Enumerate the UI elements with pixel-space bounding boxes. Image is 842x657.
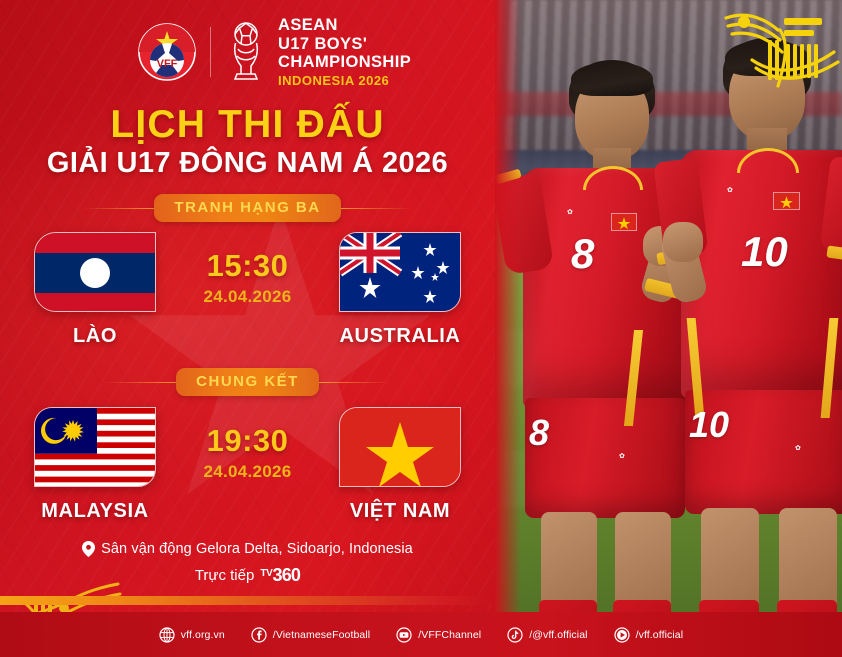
social-label: /vff.official <box>636 629 684 641</box>
venue-text: Sân vận động Gelora Delta, Sidoarjo, Ind… <box>101 541 413 557</box>
header-host-year: INDONESIA 2026 <box>278 74 411 89</box>
social-video[interactable]: /vff.official <box>614 627 684 643</box>
stage-badge-final: CHUNG KẾT <box>176 368 319 396</box>
social-label: /VietnameseFootball <box>273 629 370 641</box>
svg-text:VFF: VFF <box>157 58 178 70</box>
kickoff-time: 15:30 <box>173 248 323 284</box>
gradient-divider-band <box>0 596 495 605</box>
page-title: LỊCH THI ĐẤU <box>0 103 495 147</box>
team-name-vietnam: VIỆT NAM <box>350 500 450 523</box>
venue-row: Sân vận động Gelora Delta, Sidoarjo, Ind… <box>0 541 495 557</box>
youtube-icon <box>396 627 412 643</box>
team-away-final: VIỆT NAM <box>323 407 478 523</box>
header-line-1: ASEAN <box>278 16 411 35</box>
team-name-malaysia: MALAYSIA <box>41 500 148 523</box>
championship-trophy-icon <box>225 21 267 83</box>
kickoff-date: 24.04.2026 <box>173 462 323 482</box>
tv360-number: 360 <box>273 565 301 586</box>
malaysia-flag <box>34 407 156 487</box>
team-home-final: MALAYSIA <box>18 407 173 523</box>
australia-flag <box>339 232 461 312</box>
broadcast-row: Trực tiếp TV 360 <box>0 565 495 586</box>
poster-root: ✿ 8 8 ✿ <box>0 0 842 657</box>
poster-header: VFF ASEAN U17 BOYS' CHAMPIONSHIP INDONES… <box>138 16 411 89</box>
stage-rule-right <box>341 208 413 209</box>
stage-rule-left <box>104 382 176 383</box>
stage-rule-right <box>319 382 391 383</box>
page-subtitle: GIẢI U17 ĐÔNG NAM Á 2026 <box>0 147 495 180</box>
tv360-logo: TV 360 <box>260 565 300 586</box>
tiktok-icon <box>507 627 523 643</box>
social-youtube[interactable]: /VFFChannel <box>396 627 481 643</box>
jersey-flag-patch <box>611 213 637 231</box>
stage-row-third-place: TRANH HẠNG BA <box>0 194 495 222</box>
laos-flag <box>34 232 156 312</box>
player-right-number: 10 <box>741 228 788 276</box>
header-line-2: U17 BOYS' <box>278 35 411 54</box>
stage-badge-third-place: TRANH HẠNG BA <box>154 194 340 222</box>
header-divider <box>210 27 211 77</box>
team-name-australia: AUSTRALIA <box>340 325 461 348</box>
tv360-prefix: TV <box>260 568 272 579</box>
globe-icon <box>159 627 175 643</box>
location-pin-icon <box>82 541 95 557</box>
header-line-3: CHAMPIONSHIP <box>278 53 411 72</box>
vff-crest-logo: VFF <box>138 23 196 81</box>
social-label: /@vff.official <box>529 629 587 641</box>
vietnam-flag <box>339 407 461 487</box>
broadcast-label: Trực tiếp <box>195 567 255 584</box>
facebook-icon <box>251 627 267 643</box>
match-final: MALAYSIA 19:30 24.04.2026 VIỆT NAM <box>0 407 495 523</box>
match-time-block-third-place: 15:30 24.04.2026 <box>173 232 323 307</box>
social-facebook[interactable]: /VietnameseFootball <box>251 627 370 643</box>
team-away-third-place: AUSTRALIA <box>323 232 478 348</box>
team-name-laos: LÀO <box>73 325 117 348</box>
team-home-third-place: LÀO <box>18 232 173 348</box>
kickoff-time: 19:30 <box>173 423 323 459</box>
players-photo: ✿ 8 8 ✿ <box>495 0 842 657</box>
video-play-icon <box>614 627 630 643</box>
jersey-flag-patch <box>773 192 800 210</box>
social-tiktok[interactable]: /@vff.official <box>507 627 587 643</box>
match-time-block-final: 19:30 24.04.2026 <box>173 407 323 482</box>
stage-rule-left <box>82 208 154 209</box>
social-website[interactable]: vff.org.vn <box>159 627 225 643</box>
social-label: /VFFChannel <box>418 629 481 641</box>
match-third-place: LÀO 15:30 24.04.2026 <box>0 232 495 348</box>
social-label: vff.org.vn <box>181 629 225 641</box>
stage-row-final: CHUNG KẾT <box>0 368 495 396</box>
footer-social-bar: vff.org.vn /VietnameseFootball /VFFChann… <box>0 612 842 657</box>
player-left-number: 8 <box>571 230 594 278</box>
kickoff-date: 24.04.2026 <box>173 287 323 307</box>
